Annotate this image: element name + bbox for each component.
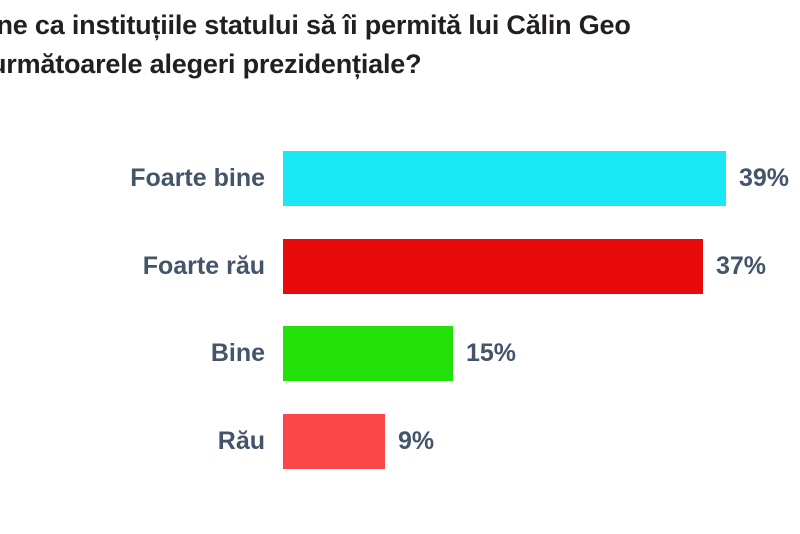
chart-title-line-1: te bine ca instituțiile statului să îi p… [0, 6, 800, 45]
bar-category-label: Rău [0, 427, 265, 455]
bar-row: Foarte rău 37% [0, 238, 800, 294]
bar-bine [283, 326, 453, 381]
bar-category-label: Foarte bine [0, 164, 265, 192]
bar-value-label: 37% [716, 252, 766, 280]
bar-track: 39% [283, 150, 800, 206]
bar-foarte-bine [283, 151, 726, 206]
bar-row: Foarte bine 39% [0, 150, 800, 206]
bar-track: 9% [283, 413, 800, 469]
bar-chart: Foarte bine 39% Foarte rău 37% Bine 15% … [0, 150, 800, 534]
bar-rau [283, 414, 385, 469]
bar-value-label: 9% [398, 427, 434, 455]
bar-row: Rău 9% [0, 413, 800, 469]
bar-foarte-rau [283, 239, 703, 294]
chart-title-line-2: următoarele alegeri prezidențiale? [0, 45, 800, 84]
bar-track: 15% [283, 325, 800, 381]
bar-value-label: 15% [466, 339, 516, 367]
chart-title: te bine ca instituțiile statului să îi p… [0, 6, 800, 84]
bar-category-label: Bine [0, 339, 265, 367]
bar-category-label: Foarte rău [0, 252, 265, 280]
bar-track: 37% [283, 238, 800, 294]
bar-value-label: 39% [739, 164, 789, 192]
bar-row: Bine 15% [0, 325, 800, 381]
